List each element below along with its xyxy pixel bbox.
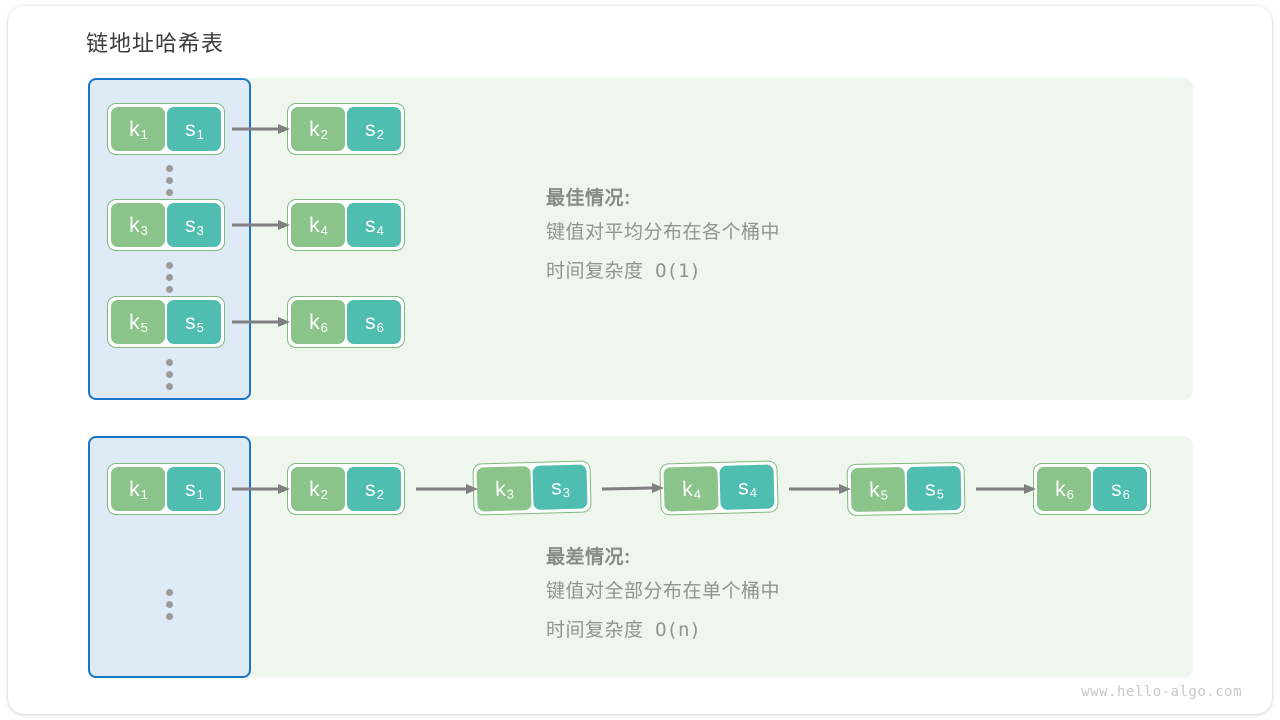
link-arrow-1-to-2-icon (232, 123, 290, 135)
value-cell: s2 (347, 107, 401, 151)
value-cell: s2 (347, 467, 401, 511)
bucket-node-k3[interactable]: k3 s3 (107, 199, 225, 251)
key-cell: k5 (111, 300, 165, 344)
worst-case-description: 键值对全部分布在单个桶中 (546, 573, 780, 611)
worst-chain-node-k4[interactable]: k4 s4 (659, 460, 778, 515)
worst-chain-node-k1[interactable]: k1 s1 (107, 463, 225, 515)
chain-node-k6[interactable]: k6 s6 (287, 296, 405, 348)
best-case-description: 键值对平均分布在各个桶中 (546, 214, 780, 252)
key-cell: k2 (291, 467, 345, 511)
value-cell: s3 (167, 203, 221, 247)
worst-link-arrow-3-icon (602, 482, 664, 494)
worst-link-arrow-2-icon (416, 483, 478, 495)
worst-chain-node-k5[interactable]: k5 s5 (847, 462, 966, 516)
value-cell: s6 (347, 300, 401, 344)
value-cell: s4 (719, 464, 774, 509)
key-cell: k6 (291, 300, 345, 344)
diagram-canvas: 链地址哈希表 k1 s1 k3 s3 k5 s5 k2 s2 k4 s4 k6 … (0, 0, 1280, 720)
worst-link-arrow-4-icon (789, 483, 851, 495)
diagram-card: 链地址哈希表 k1 s1 k3 s3 k5 s5 k2 s2 k4 s4 k6 … (8, 6, 1272, 714)
bucket-ellipsis-2-icon (166, 262, 173, 293)
key-cell: k5 (851, 467, 906, 512)
link-arrow-5-to-6-icon (232, 316, 290, 328)
bucket-ellipsis-3-icon (166, 359, 173, 390)
page-title: 链地址哈希表 (86, 26, 224, 58)
key-cell: k1 (111, 107, 165, 151)
worst-chain-node-k2[interactable]: k2 s2 (287, 463, 405, 515)
value-cell: s1 (167, 467, 221, 511)
best-case-note: 最佳情况: 键值对平均分布在各个桶中 时间复杂度 O(1) (546, 184, 780, 291)
worst-case-complexity: 时间复杂度 O(n) (546, 611, 780, 650)
worst-chain-node-k6[interactable]: k6 s6 (1033, 463, 1151, 515)
worst-case-note: 最差情况: 键值对全部分布在单个桶中 时间复杂度 O(n) (546, 543, 780, 650)
key-cell: k3 (476, 466, 531, 511)
link-arrow-3-to-4-icon (232, 219, 290, 231)
chain-node-k2[interactable]: k2 s2 (287, 103, 405, 155)
bucket-node-k5[interactable]: k5 s5 (107, 296, 225, 348)
value-cell: s5 (907, 466, 962, 511)
worst-case-heading: 最差情况: (546, 543, 780, 573)
watermark: www.hello-algo.com (1081, 684, 1242, 700)
worst-chain-node-k3[interactable]: k3 s3 (472, 460, 591, 515)
bucket-node-k1[interactable]: k1 s1 (107, 103, 225, 155)
worst-link-arrow-1-icon (232, 483, 290, 495)
best-case-heading: 最佳情况: (546, 184, 780, 214)
value-cell: s1 (167, 107, 221, 151)
value-cell: s6 (1093, 467, 1147, 511)
value-cell: s4 (347, 203, 401, 247)
chain-node-k4[interactable]: k4 s4 (287, 199, 405, 251)
key-cell: k2 (291, 107, 345, 151)
worst-link-arrow-5-icon (976, 483, 1036, 495)
key-cell: k1 (111, 467, 165, 511)
best-case-complexity: 时间复杂度 O(1) (546, 252, 780, 291)
value-cell: s3 (532, 464, 587, 509)
value-cell: s5 (167, 300, 221, 344)
worst-bucket-ellipsis-icon (166, 589, 173, 620)
bucket-ellipsis-1-icon (166, 165, 173, 196)
key-cell: k3 (111, 203, 165, 247)
key-cell: k4 (663, 466, 718, 511)
key-cell: k6 (1037, 467, 1091, 511)
key-cell: k4 (291, 203, 345, 247)
